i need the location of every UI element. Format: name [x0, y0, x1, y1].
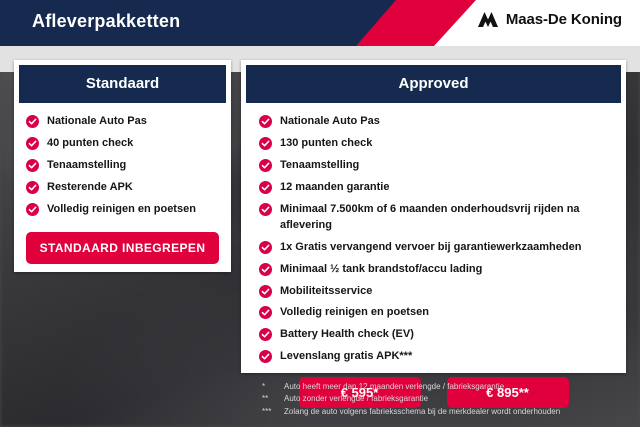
- check-circle-icon: [259, 181, 272, 194]
- feature-label: Minimaal ½ tank brandstof/accu lading: [280, 262, 482, 278]
- list-item: Nationale Auto Pas: [14, 114, 231, 130]
- check-circle-icon: [259, 350, 272, 363]
- maas-de-koning-logo-icon: [477, 11, 499, 28]
- page-title: Afleverpakketten: [32, 11, 180, 32]
- list-item: Minimaal ½ tank brandstof/accu lading: [241, 262, 626, 278]
- feature-label: Battery Health check (EV): [280, 327, 414, 343]
- list-item: Tenaamstelling: [14, 158, 231, 174]
- check-circle-icon: [26, 115, 39, 128]
- standaard-inbegrepen-button[interactable]: STANDAARD INBEGREPEN: [26, 232, 219, 264]
- feature-label: Nationale Auto Pas: [280, 114, 380, 130]
- package-card-standaard: Standaard Nationale Auto Pas 40 punten c…: [14, 60, 231, 272]
- check-circle-icon: [259, 115, 272, 128]
- list-item: Mobiliteitsservice: [241, 284, 626, 300]
- feature-label: Nationale Auto Pas: [47, 114, 147, 130]
- list-item: Volledig reinigen en poetsen: [14, 202, 231, 218]
- feature-label: Volledig reinigen en poetsen: [47, 202, 196, 218]
- feature-label: Minimaal 7.500km of 6 maanden onderhouds…: [280, 202, 616, 234]
- footnote-text: Auto zonder verlengde / fabrieksgarantie: [284, 393, 632, 405]
- check-circle-icon: [259, 306, 272, 319]
- feature-list-standaard: Nationale Auto Pas 40 punten check Tenaa…: [14, 103, 231, 218]
- list-item: Battery Health check (EV): [241, 327, 626, 343]
- check-circle-icon: [259, 137, 272, 150]
- feature-label: 12 maanden garantie: [280, 180, 389, 196]
- feature-label: Tenaamstelling: [47, 158, 126, 174]
- card-heading-standaard: Standaard: [19, 65, 226, 103]
- check-circle-icon: [259, 159, 272, 172]
- list-item: 12 maanden garantie: [241, 180, 626, 196]
- feature-label: 1x Gratis vervangend vervoer bij garanti…: [280, 240, 581, 256]
- feature-label: Levenslang gratis APK***: [280, 349, 412, 365]
- check-circle-icon: [26, 181, 39, 194]
- list-item: Resterende APK: [14, 180, 231, 196]
- list-item: Volledig reinigen en poetsen: [241, 305, 626, 321]
- footnote-marker: *: [262, 381, 278, 393]
- feature-label: Mobiliteitsservice: [280, 284, 372, 300]
- feature-label: 40 punten check: [47, 136, 133, 152]
- footnote-marker: **: [262, 393, 278, 405]
- package-card-approved: Approved Nationale Auto Pas 130 punten c…: [241, 60, 626, 373]
- footnote-marker: ***: [262, 406, 278, 418]
- list-item: Nationale Auto Pas: [241, 114, 626, 130]
- list-item: Levenslang gratis APK***: [241, 349, 626, 365]
- check-circle-icon: [259, 203, 272, 216]
- list-item: Tenaamstelling: [241, 158, 626, 174]
- check-circle-icon: [259, 263, 272, 276]
- check-circle-icon: [259, 328, 272, 341]
- feature-label: 130 punten check: [280, 136, 372, 152]
- feature-list-approved: Nationale Auto Pas 130 punten check Tena…: [241, 103, 626, 365]
- feature-label: Resterende APK: [47, 180, 133, 196]
- check-circle-icon: [259, 285, 272, 298]
- footnote-1: * Auto heeft meer dan 12 maanden verleng…: [262, 381, 632, 393]
- footnote-text: Auto heeft meer dan 12 maanden verlengde…: [284, 381, 632, 393]
- brand-name: Maas-De Koning: [506, 11, 622, 28]
- slide-root: Afleverpakketten Maas-De Koning Standaar…: [0, 0, 640, 427]
- list-item: 1x Gratis vervangend vervoer bij garanti…: [241, 240, 626, 256]
- footnote-block: * Auto heeft meer dan 12 maanden verleng…: [262, 381, 632, 418]
- check-circle-icon: [26, 203, 39, 216]
- feature-label: Volledig reinigen en poetsen: [280, 305, 429, 321]
- list-item: 130 punten check: [241, 136, 626, 152]
- feature-label: Tenaamstelling: [280, 158, 359, 174]
- check-circle-icon: [26, 137, 39, 150]
- footnote-text: Zolang de auto volgens fabrieksschema bi…: [284, 406, 632, 418]
- brand-lockup: Maas-De Koning: [477, 11, 622, 28]
- header-bar: Afleverpakketten Maas-De Koning: [0, 0, 640, 46]
- check-circle-icon: [26, 159, 39, 172]
- check-circle-icon: [259, 241, 272, 254]
- list-item: Minimaal 7.500km of 6 maanden onderhouds…: [241, 202, 626, 234]
- footnote-2: ** Auto zonder verlengde / fabrieksgaran…: [262, 393, 632, 405]
- footnote-3: *** Zolang de auto volgens fabrieksschem…: [262, 406, 632, 418]
- list-item: 40 punten check: [14, 136, 231, 152]
- card-heading-approved: Approved: [246, 65, 621, 103]
